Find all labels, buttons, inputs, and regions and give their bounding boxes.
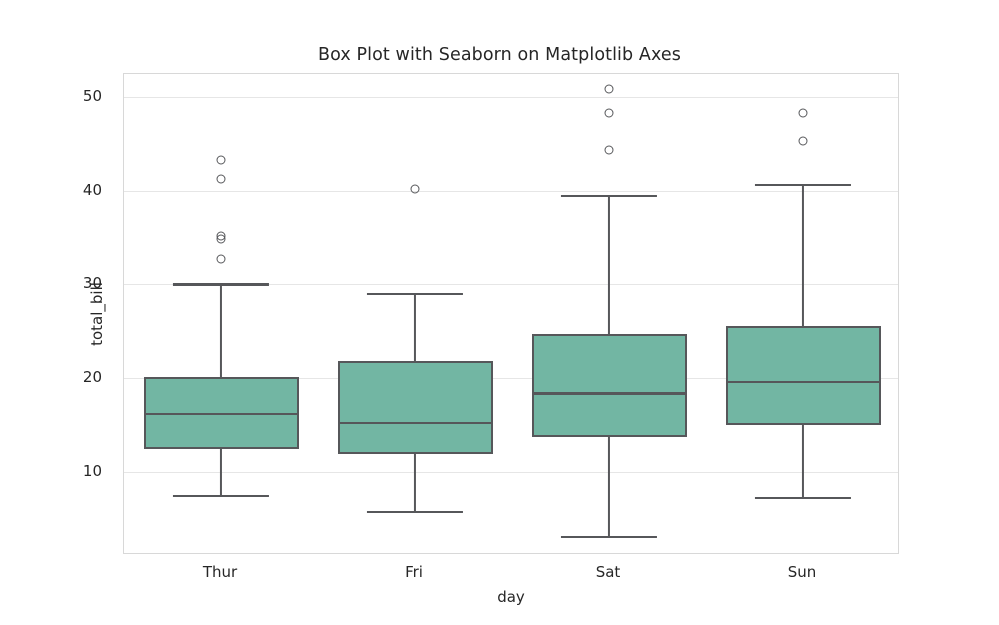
x-axis-label: day xyxy=(123,588,899,606)
outlier-marker xyxy=(799,109,808,118)
x-tick-label-thur: Thur xyxy=(203,563,237,581)
y-tick-label: 20 xyxy=(42,368,102,386)
x-tick-label-sat: Sat xyxy=(596,563,621,581)
page-title: Box Plot with Seaborn on Matplotlib Axes xyxy=(0,45,999,65)
y-tick-label: 40 xyxy=(42,181,102,199)
whisker-lower xyxy=(802,425,804,497)
cap-lower xyxy=(755,497,851,499)
x-tick-label-sun: Sun xyxy=(788,563,817,581)
x-tick-label-fri: Fri xyxy=(405,563,423,581)
box-iqr xyxy=(726,326,881,426)
whisker-upper xyxy=(802,185,804,326)
cap-upper xyxy=(755,184,851,186)
y-tick-label: 30 xyxy=(42,274,102,292)
y-tick-label: 10 xyxy=(42,462,102,480)
figure-canvas: Box Plot with Seaborn on Matplotlib Axes… xyxy=(0,0,999,625)
box-group-sun xyxy=(124,74,898,553)
outlier-marker xyxy=(799,136,808,145)
y-tick-label-group: 1020304050 xyxy=(42,73,102,554)
median-line xyxy=(726,381,881,383)
y-tick-label: 50 xyxy=(42,87,102,105)
plot-area xyxy=(123,73,899,554)
